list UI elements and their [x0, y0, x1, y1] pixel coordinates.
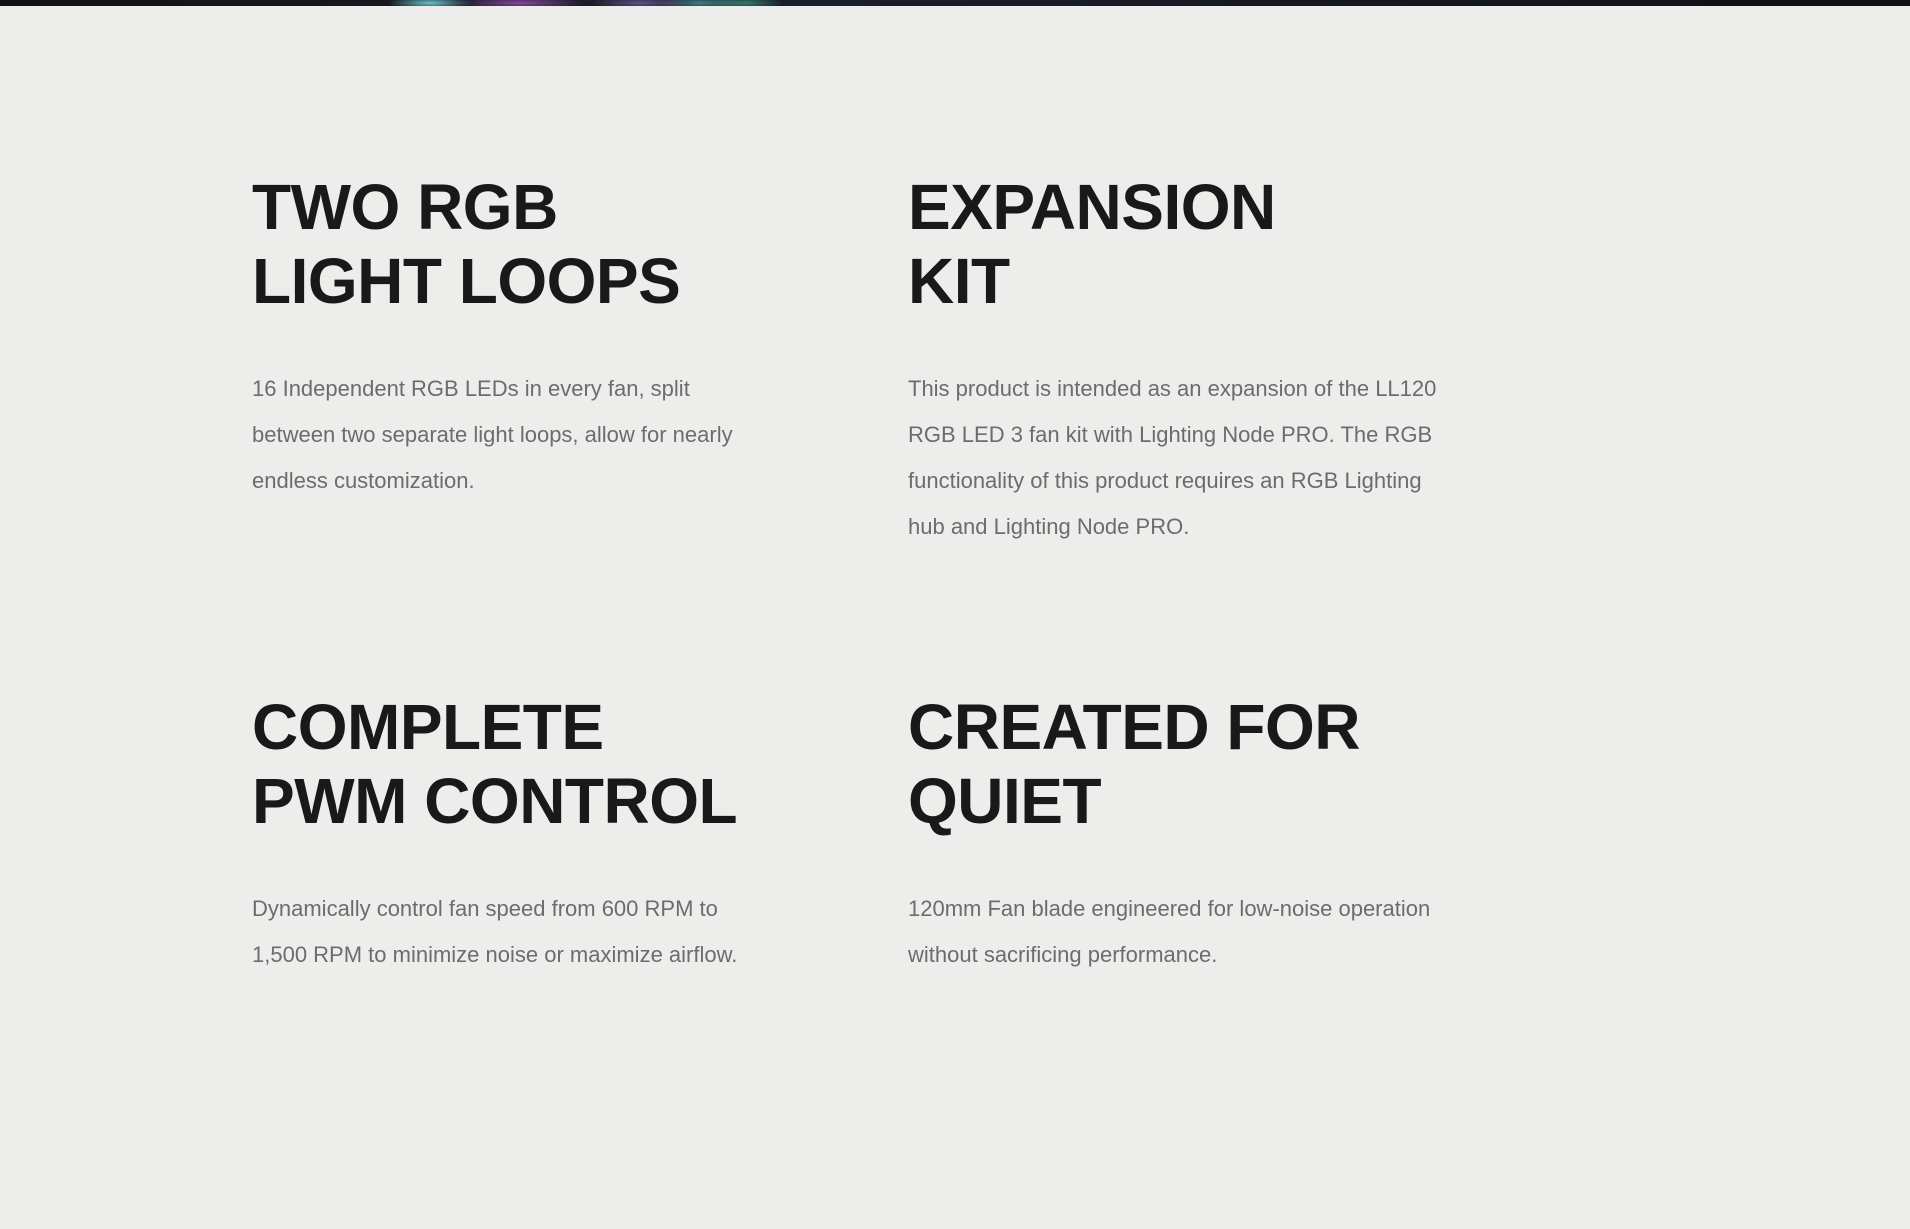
- feature-body: This product is intended as an expansion…: [908, 366, 1438, 550]
- feature-card-created-for-quiet: CREATED FOR QUIET 120mm Fan blade engine…: [908, 690, 1564, 978]
- feature-heading: CREATED FOR QUIET: [908, 690, 1564, 838]
- feature-body: 120mm Fan blade engineered for low-noise…: [908, 886, 1438, 978]
- feature-body: Dynamically control fan speed from 600 R…: [252, 886, 777, 978]
- feature-card-two-rgb-light-loops: TWO RGB LIGHT LOOPS 16 Independent RGB L…: [252, 170, 908, 690]
- feature-card-complete-pwm-control: COMPLETE PWM CONTROL Dynamically control…: [252, 690, 908, 978]
- feature-grid: TWO RGB LIGHT LOOPS 16 Independent RGB L…: [0, 0, 1910, 1229]
- feature-heading: COMPLETE PWM CONTROL: [252, 690, 908, 838]
- feature-body: 16 Independent RGB LEDs in every fan, sp…: [252, 366, 777, 504]
- feature-heading: EXPANSION KIT: [908, 170, 1564, 318]
- feature-row-2: COMPLETE PWM CONTROL Dynamically control…: [252, 690, 1910, 978]
- feature-card-expansion-kit: EXPANSION KIT This product is intended a…: [908, 170, 1564, 690]
- feature-heading: TWO RGB LIGHT LOOPS: [252, 170, 908, 318]
- feature-row-1: TWO RGB LIGHT LOOPS 16 Independent RGB L…: [252, 170, 1910, 690]
